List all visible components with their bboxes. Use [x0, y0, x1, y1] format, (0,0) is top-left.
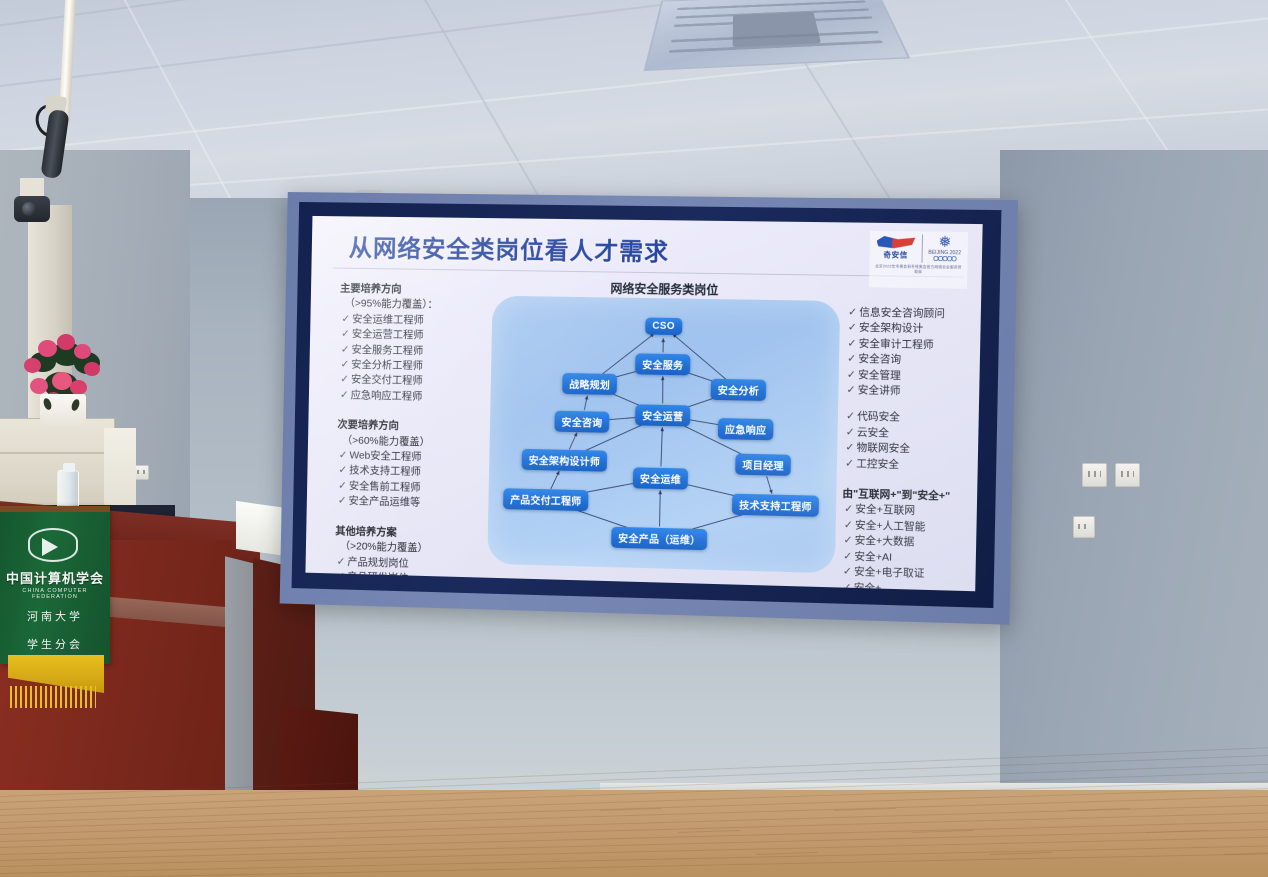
diagram-edge	[551, 471, 559, 489]
diagram-node-product: 安全产品（运维）	[611, 527, 708, 550]
column-spacer	[843, 472, 978, 486]
wall-camera-icon	[14, 196, 50, 222]
checklist-item-label: 安全运维工程师	[352, 313, 424, 326]
sponsor-logo-block: 奇安信 ❅ BEIJING 2022 OOOOO 北京2022年冬奥会和冬残奥会…	[869, 231, 968, 289]
check-icon: ✓	[338, 463, 349, 478]
org-diagram: 网络安全服务类岗位 CSO安全服务战略规划安全分析安全运营安全咨询应急响应安全架…	[479, 278, 846, 578]
check-icon: ✓	[340, 388, 351, 403]
checklist-item-label: 云安全	[857, 426, 889, 439]
check-icon: ✓	[843, 533, 854, 549]
projector-screen: 从网络安全类岗位看人才需求 奇安信 ❅ BEIJING 2022 OOOOO	[280, 192, 1018, 625]
checklist-item-label: 技术支持工程师	[349, 465, 421, 479]
check-icon: ✓	[338, 479, 349, 494]
checklist-item-label: 安全+人工智能	[855, 519, 926, 533]
column-spacer	[336, 509, 481, 524]
diagram-edge	[584, 396, 587, 410]
right-wall	[1000, 150, 1268, 840]
qianxin-brand-label: 奇安信	[876, 249, 915, 261]
diagram-edge	[661, 427, 662, 466]
pennant-line-2: 河南大学	[0, 608, 110, 624]
olympic-rings-icon: OOOOO	[928, 256, 961, 264]
check-icon: ✓	[842, 580, 853, 591]
check-icon: ✓	[844, 502, 855, 518]
wall-switch[interactable]	[1073, 516, 1095, 538]
check-icon: ✓	[341, 327, 352, 342]
right-text-column: ✓信息安全咨询顾问✓安全架构设计✓安全审计工程师✓安全咨询✓安全管理✓安全讲师✓…	[840, 305, 981, 591]
checklist-item: ✓安全测试岗位	[334, 585, 479, 592]
check-icon: ✓	[846, 410, 857, 426]
checklist-item-label: 物联网安全	[856, 442, 910, 455]
diagram-node-maintain: 安全运维	[633, 467, 689, 489]
checklist-item-label: 安全+电子取证	[854, 566, 925, 580]
check-icon: ✓	[341, 342, 352, 357]
checklist-item-label: 工控安全	[856, 457, 899, 470]
checklist-item-label: 产品研发岗位	[347, 571, 409, 585]
checklist-item: ✓产品研发岗位	[334, 569, 479, 588]
pennant-line-3: 学生分会	[0, 636, 110, 652]
check-icon: ✓	[340, 357, 351, 372]
diagram-node-plan: 战略规划	[562, 373, 617, 395]
screen-bezel: 从网络安全类岗位看人才需求 奇安信 ❅ BEIJING 2022 OOOOO	[292, 202, 1002, 608]
check-icon: ✓	[845, 441, 856, 457]
diagram-node-cso: CSO	[645, 318, 682, 336]
check-icon: ✓	[846, 425, 857, 441]
ccf-emblem-icon	[28, 528, 78, 562]
diagram-node-consult: 安全咨询	[554, 411, 609, 433]
check-icon: ✓	[848, 321, 859, 337]
check-icon: ✓	[843, 549, 854, 565]
diagram-edge	[766, 476, 772, 493]
checklist-item-label: 安全产品运维等	[348, 495, 420, 509]
check-icon: ✓	[339, 448, 350, 463]
check-icon: ✓	[846, 383, 857, 399]
sponsor-caption: 北京2022年冬奥会和冬残奥会官方网络安全服务赞助商	[873, 264, 963, 275]
checklist-item: ✓安全讲师	[844, 383, 979, 401]
diagram-node-emergency: 应急响应	[718, 418, 774, 440]
qianxin-logo: 奇安信	[876, 236, 915, 261]
checklist-item: ✓应急响应工程师	[338, 388, 483, 406]
left-text-column: 主要培养方向（>95%能力覆盖）：✓安全运维工程师✓安全运营工程师✓安全服务工程…	[334, 277, 485, 591]
checklist-item-label: 安全+互联网	[855, 504, 915, 518]
diagram-node-support: 技术支持工程师	[732, 494, 819, 517]
check-icon: ✓	[843, 564, 854, 580]
check-icon: ✓	[338, 494, 349, 509]
checklist-item-label: 应急响应工程师	[351, 389, 423, 402]
check-icon: ✓	[847, 367, 858, 383]
column-spacer	[338, 403, 483, 417]
checklist-item-label: 代码安全	[857, 411, 900, 424]
wall-outlet-right[interactable]	[1115, 463, 1140, 487]
pennant-org-en: CHINA COMPUTER FEDERATION	[0, 588, 110, 600]
flower-pot	[40, 394, 86, 426]
checklist-item-label: 安全交付工程师	[351, 374, 423, 387]
diagram-node-delivery: 产品交付工程师	[503, 488, 589, 511]
checklist-item-label: 安全分析工程师	[351, 359, 423, 372]
room-scene: 中国计算机学会 CHINA COMPUTER FEDERATION 河南大学 学…	[0, 0, 1268, 877]
checklist-item-label: 安全审计工程师	[859, 337, 934, 350]
diagram-node-architect: 安全架构设计师	[522, 449, 608, 472]
checklist-item-label: 安全服务工程师	[351, 343, 423, 356]
diagram-edge	[660, 490, 661, 526]
pennant-fringe	[10, 686, 96, 708]
qianxin-mark-icon	[876, 236, 915, 249]
check-icon: ✓	[336, 585, 347, 592]
checklist-item-label: 安全咨询	[858, 353, 901, 366]
check-icon: ✓	[845, 456, 856, 472]
slide-title: 从网络安全类岗位看人才需求	[348, 228, 669, 267]
cabinet-seam	[0, 452, 108, 454]
pennant-org-cn: 中国计算机学会	[0, 568, 110, 587]
floor-plank-lines	[0, 790, 1268, 877]
checklist-item-label: 安全+AI	[854, 550, 892, 563]
diagram-edge	[569, 432, 577, 449]
wall-outlet-left[interactable]	[1082, 463, 1107, 487]
checklist-item-label: 产品规划岗位	[347, 556, 409, 570]
checklist-item-label: 安全架构设计	[859, 322, 923, 335]
check-icon: ✓	[847, 336, 858, 352]
checklist-item-label: 安全售前工程师	[349, 480, 421, 494]
diagram-node-analysis: 安全分析	[711, 379, 767, 401]
check-icon: ✓	[340, 373, 351, 388]
presentation-slide: 从网络安全类岗位看人才需求 奇安信 ❅ BEIJING 2022 OOOOO	[305, 216, 982, 591]
checklist-item-label: 安全+大数据	[855, 535, 915, 549]
diagram-node-pm: 项目经理	[735, 454, 791, 476]
diagram-edge	[662, 376, 663, 403]
checklist-item-label: 安全管理	[858, 369, 901, 382]
checklist-item-label: 安全讲师	[858, 384, 901, 397]
check-icon: ✓	[337, 554, 348, 569]
logo-divider	[921, 234, 923, 262]
olympics-logo: ❅ BEIJING 2022 OOOOO	[928, 235, 961, 264]
check-icon: ✓	[847, 352, 858, 368]
check-icon: ✓	[336, 569, 347, 584]
diagram-node-ops: 安全运营	[635, 404, 691, 426]
check-icon: ✓	[844, 518, 855, 534]
checklist-item-label: 信息安全咨询顾问	[859, 306, 945, 320]
diagram-node-svc: 安全服务	[635, 353, 691, 375]
checklist-item-label: 安全运营工程师	[352, 328, 424, 341]
checklist-item: ✓工控安全	[843, 456, 978, 475]
wood-floor	[0, 790, 1268, 877]
checklist-item-label: 安全测试岗位	[347, 586, 409, 591]
olympics-glyph-icon: ❅	[928, 235, 961, 251]
check-icon: ✓	[848, 305, 859, 321]
checklist-item-label: Web安全工程师	[349, 450, 421, 463]
check-icon: ✓	[341, 312, 352, 327]
checklist-item-label: 安全+……	[854, 581, 903, 591]
ccf-pennant: 中国计算机学会 CHINA COMPUTER FEDERATION 河南大学 学…	[0, 506, 110, 664]
